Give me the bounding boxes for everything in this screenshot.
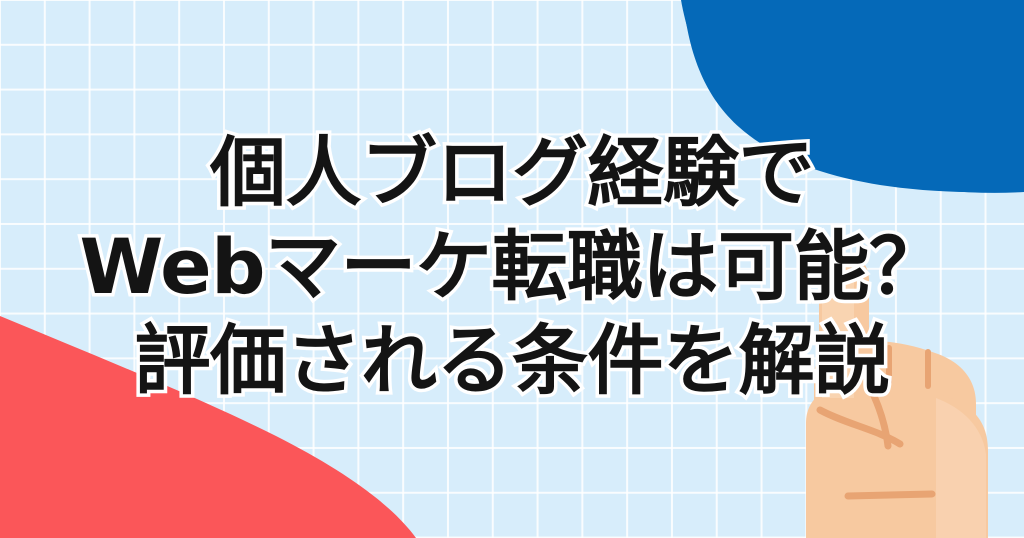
headline-line-2: Webマーケ転職は可能？ <box>79 222 944 312</box>
headline-line-1: 個人ブログ経験で <box>210 128 814 218</box>
headline-block: 個人ブログ経験で Webマーケ転職は可能？ 評価される条件を解説 <box>0 0 1024 538</box>
headline-line-3: 評価される条件を解説 <box>135 316 890 406</box>
eyecatch-canvas: 個人ブログ経験で Webマーケ転職は可能？ 評価される条件を解説 <box>0 0 1024 538</box>
